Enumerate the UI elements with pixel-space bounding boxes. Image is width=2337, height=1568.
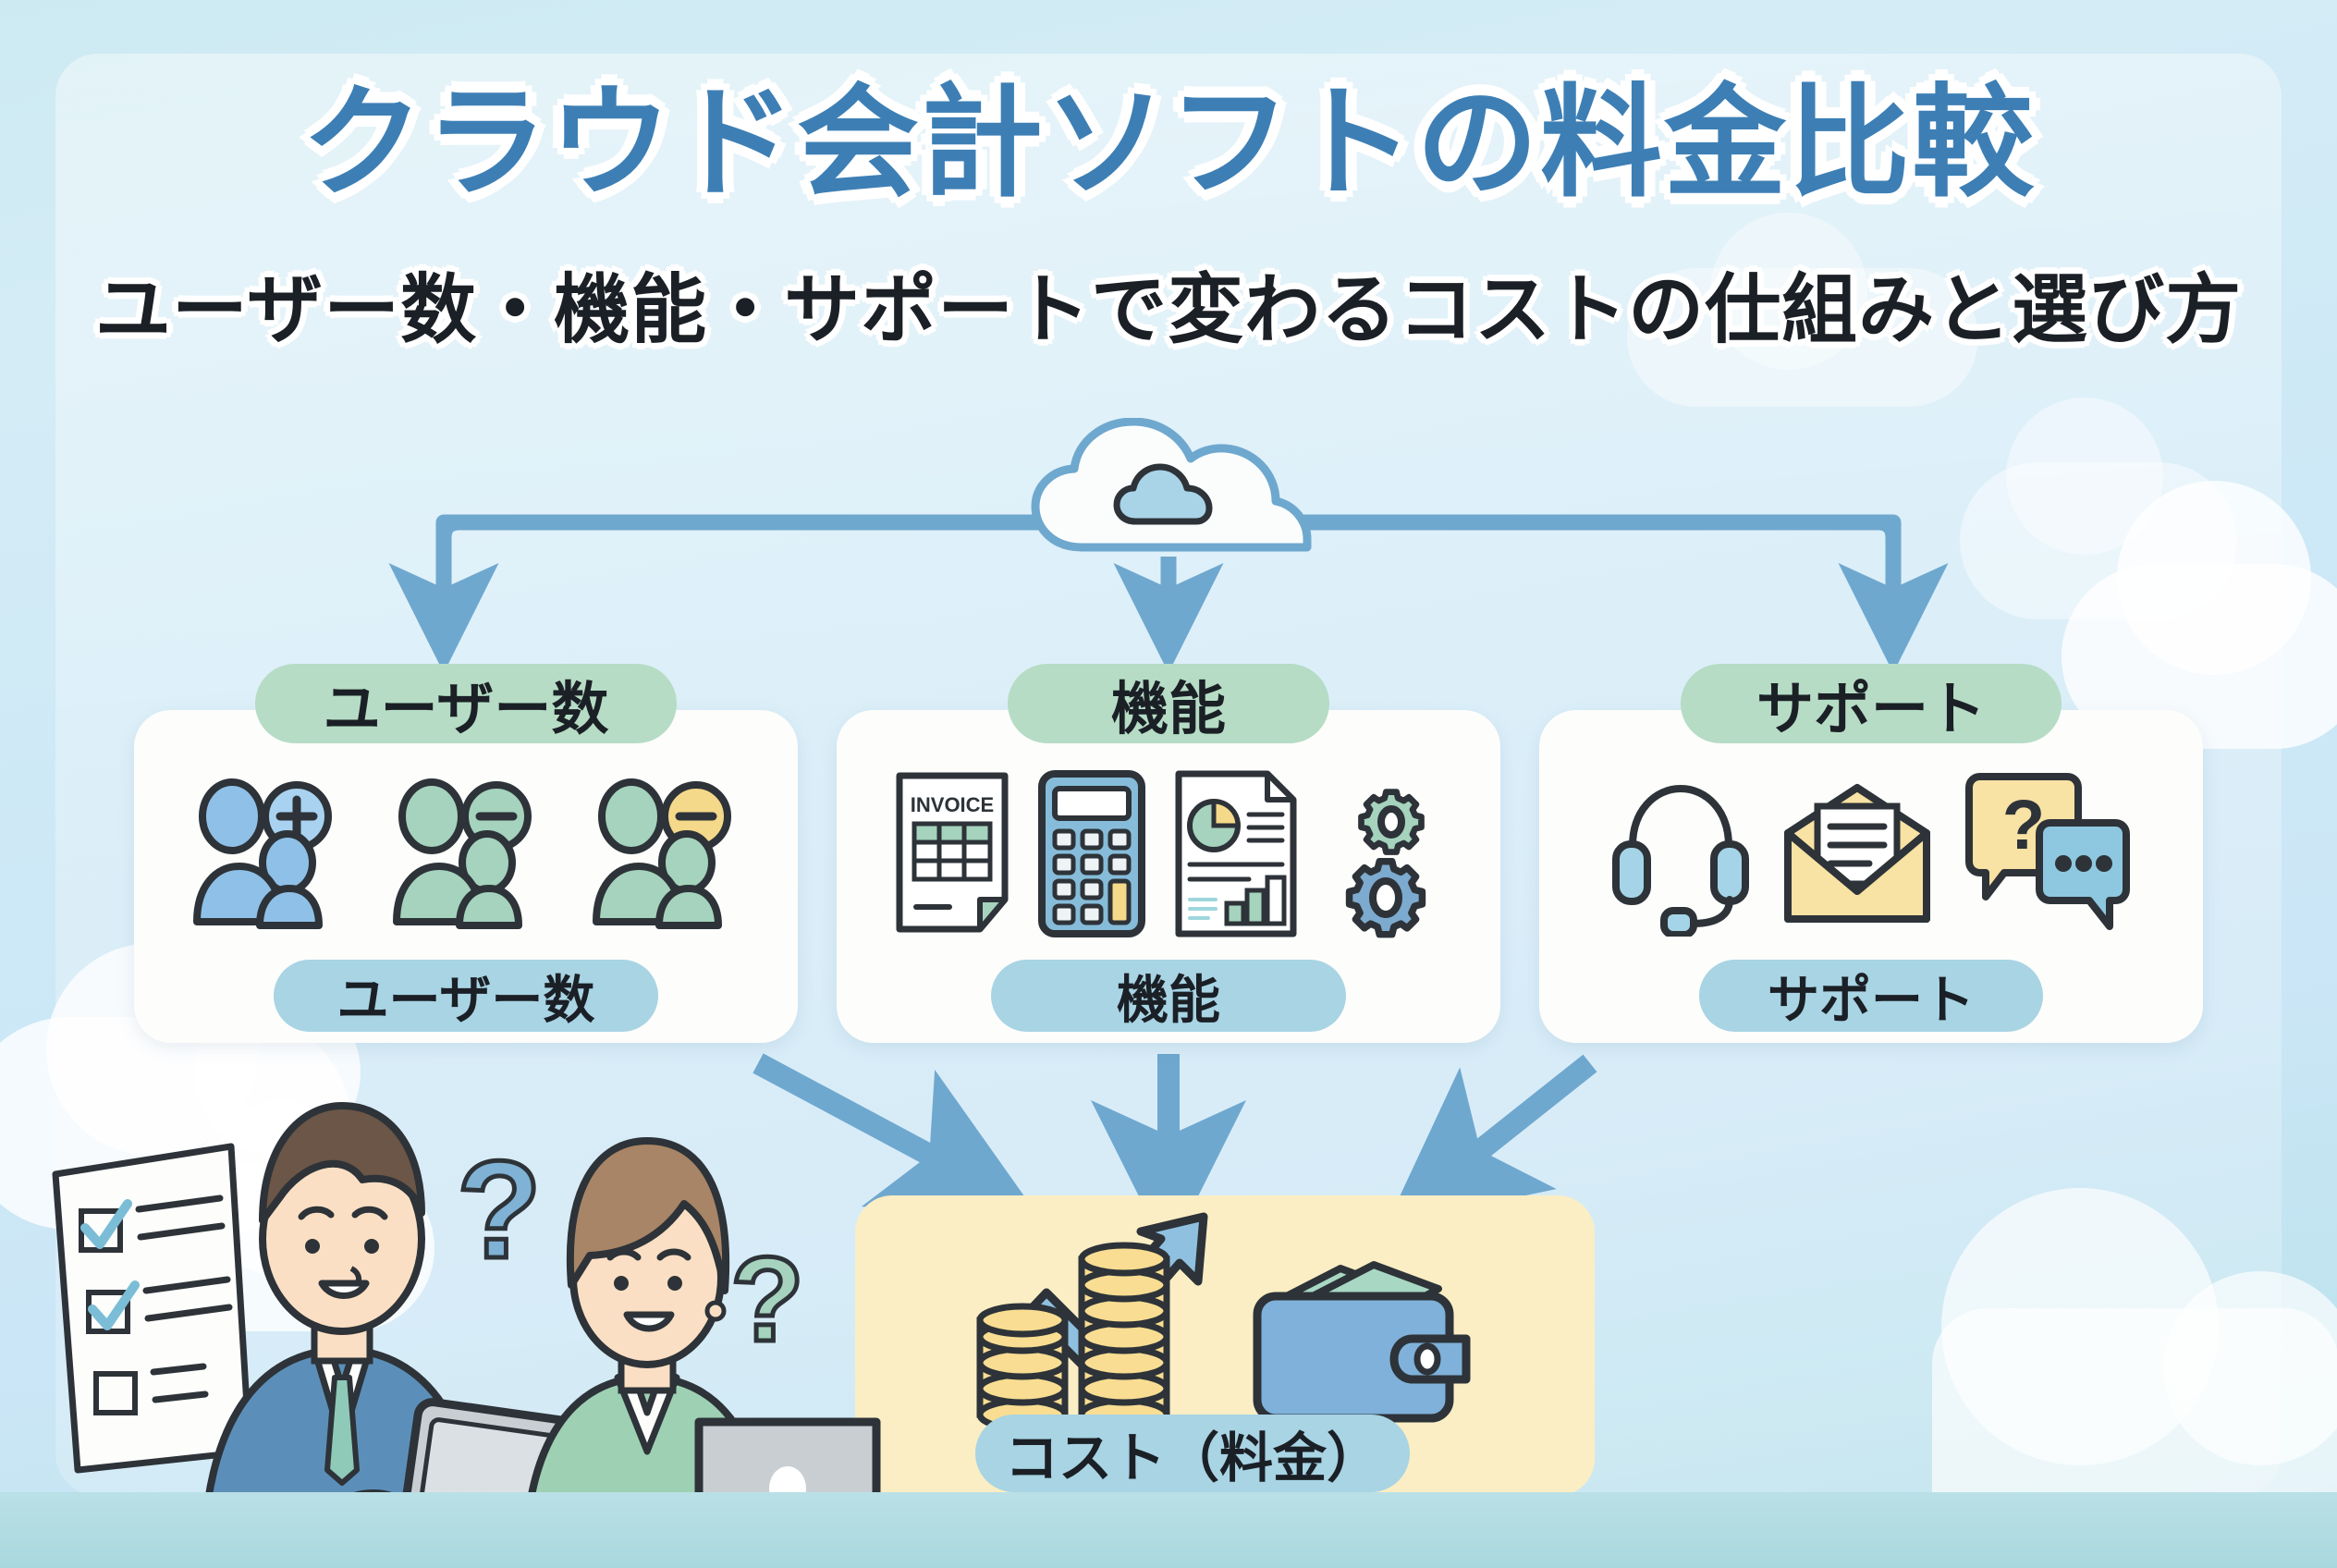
checklist-paper-icon [55, 1146, 250, 1470]
headset-icon [1607, 770, 1755, 937]
user-group-remove-icon [378, 778, 554, 930]
factor-label-top-users: ユーザー数 [255, 664, 677, 743]
cost-icons [943, 1211, 1516, 1433]
factor-label-bottom-features: 機能 [991, 960, 1346, 1032]
gears-icon [1325, 768, 1445, 939]
wallet-cash-icon [1257, 1265, 1466, 1418]
factor-label-bottom-users: ユーザー数 [274, 960, 658, 1032]
coin-stack-tall [1082, 1245, 1167, 1428]
infographic-canvas: クラウド会計ソフトの料金比較 ユーザー数・機能・サポートで変わるコストの仕組みと… [0, 0, 2337, 1568]
envelope-mail-icon [1779, 782, 1936, 925]
report-chart-icon [1171, 768, 1301, 939]
coin-stack-short [980, 1306, 1065, 1428]
factor-icons-features: INVOICE [837, 766, 1500, 941]
page-title: クラウド会計ソフトの料金比較 [0, 44, 2337, 221]
factor-icons-users [134, 766, 798, 941]
invoice-document-icon: INVOICE [892, 770, 1012, 937]
cloud-hub-node [1024, 418, 1329, 557]
factor-label-bottom-support: サポート [1699, 960, 2043, 1032]
factor-label-top-support: サポート [1681, 664, 2062, 743]
user-group-add-icon [178, 778, 354, 930]
question-mark-green: ? [730, 1231, 803, 1366]
factor-label-top-features: 機能 [1008, 664, 1329, 743]
bottom-band [0, 1492, 2337, 1568]
question-chat-bubbles-icon: ? [1960, 773, 2135, 935]
invoice-label: INVOICE [911, 793, 994, 816]
calculator-icon [1036, 768, 1147, 939]
question-mark-blue: ? [457, 1132, 542, 1287]
factor-icons-support: ? [1539, 766, 2203, 941]
page-subtitle: ユーザー数・機能・サポートで変わるコストの仕組みと選び方 [0, 248, 2337, 358]
cost-result-label: コスト（料金） [975, 1415, 1410, 1492]
user-group-remove-alt-icon [578, 778, 753, 930]
